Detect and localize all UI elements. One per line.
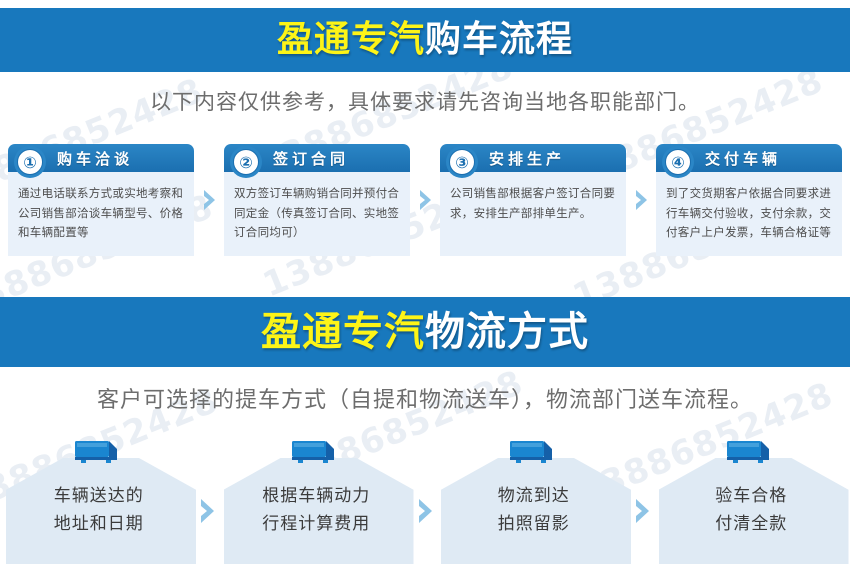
- logistics-line-2: 地址和日期: [54, 511, 144, 538]
- logistics-line-2: 行程计算费用: [262, 511, 370, 538]
- purchase-process-banner: 盈通专汽购车流程: [0, 8, 850, 72]
- logistics-arrow-2: [409, 458, 441, 564]
- truck-icon: [725, 439, 777, 465]
- banner-subject: 物流方式: [425, 309, 589, 355]
- logistics-arrow-1: [192, 458, 224, 564]
- logistics-line-2: 付清全款: [715, 511, 787, 538]
- step-card-2-header: ② 签订合同: [224, 144, 410, 172]
- purchase-process-banner-title: 盈通专汽购车流程: [277, 22, 573, 58]
- step-body: 到了交货期客户依据合同要求进行车辆交付验收，支付余款，交付客户上户发票，车辆合格…: [656, 172, 842, 256]
- logistics-line-1: 验车合格: [715, 483, 787, 510]
- brand-name: 盈通专汽: [261, 309, 425, 355]
- step-number-badge: ③: [449, 149, 475, 175]
- logistics-card-1: 车辆送达的 地址和日期: [6, 439, 192, 564]
- logistics-line-2: 拍照留影: [498, 511, 570, 538]
- logistics-banner: 盈通专汽物流方式: [0, 297, 850, 367]
- step-title: 购车洽谈: [57, 148, 133, 169]
- step-title: 安排生产: [489, 148, 565, 169]
- chevron-right-icon: [635, 189, 648, 211]
- logistics-card-3: 物流到达 拍照留影: [441, 439, 627, 564]
- step-card-3: ③ 安排生产 公司销售部根据客户签订合同要求，安排生产部排单生产。: [440, 144, 626, 256]
- step-title: 签订合同: [273, 148, 349, 169]
- purchase-steps-row: ① 购车洽谈 通过电话联系方式或实地考察和公司销售部洽谈车辆型号、价格和车辆配置…: [8, 144, 844, 256]
- step-body: 公司销售部根据客户签订合同要求，安排生产部排单生产。: [440, 172, 626, 256]
- chevron-right-icon: [635, 498, 650, 524]
- step-body: 通过电话联系方式或实地考察和公司销售部洽谈车辆型号、价格和车辆配置等: [8, 172, 194, 256]
- brand-name: 盈通专汽: [277, 19, 425, 60]
- step-body: 双方签订车辆购销合同并预付合同定金（传真签订合同、实地签订合同均可）: [224, 172, 410, 256]
- step-card-1-header: ① 购车洽谈: [8, 144, 194, 172]
- truck-icon: [508, 439, 560, 465]
- logistics-line-1: 车辆送达的: [54, 483, 144, 510]
- step-card-3-header: ③ 安排生产: [440, 144, 626, 172]
- logistics-card-text: 物流到达 拍照留影: [498, 465, 570, 537]
- step-number-badge: ②: [233, 149, 259, 175]
- logistics-line-1: 根据车辆动力: [262, 483, 370, 510]
- step-arrow-1: [194, 144, 224, 256]
- step-number-badge: ①: [17, 149, 43, 175]
- step-number-badge: ④: [665, 149, 691, 175]
- step-arrow-3: [626, 144, 656, 256]
- logistics-arrow-3: [627, 458, 659, 564]
- truck-icon: [73, 439, 125, 465]
- chevron-right-icon: [419, 189, 432, 211]
- step-card-4: ④ 交付车辆 到了交货期客户依据合同要求进行车辆交付验收，支付余款，交付客户上户…: [656, 144, 842, 256]
- chevron-right-icon: [418, 498, 433, 524]
- logistics-card-text: 车辆送达的 地址和日期: [54, 465, 144, 537]
- logistics-card-text: 验车合格 付清全款: [715, 465, 787, 537]
- banner-subject: 购车流程: [425, 19, 573, 60]
- step-card-2: ② 签订合同 双方签订车辆购销合同并预付合同定金（传真签订合同、实地签订合同均可…: [224, 144, 410, 256]
- chevron-right-icon: [203, 189, 216, 211]
- truck-icon: [290, 439, 342, 465]
- step-arrow-2: [410, 144, 440, 256]
- step-card-4-header: ④ 交付车辆: [656, 144, 842, 172]
- logistics-card-2: 根据车辆动力 行程计算费用: [224, 439, 410, 564]
- chevron-right-icon: [200, 498, 215, 524]
- logistics-subtitle: 客户可选择的提车方式（自提和物流送车），物流部门送车流程。: [0, 382, 850, 414]
- step-title: 交付车辆: [705, 148, 781, 169]
- step-card-1: ① 购车洽谈 通过电话联系方式或实地考察和公司销售部洽谈车辆型号、价格和车辆配置…: [8, 144, 194, 256]
- logistics-steps-row: 车辆送达的 地址和日期 根据车辆动力 行程计算费用: [6, 432, 844, 564]
- logistics-card-text: 根据车辆动力 行程计算费用: [262, 465, 370, 537]
- logistics-card-4: 验车合格 付清全款: [659, 439, 845, 564]
- purchase-subtitle: 以下内容仅供参考，具体要求请先咨询当地各职能部门。: [0, 86, 850, 116]
- logistics-banner-title: 盈通专汽物流方式: [261, 312, 589, 352]
- logistics-line-1: 物流到达: [498, 483, 570, 510]
